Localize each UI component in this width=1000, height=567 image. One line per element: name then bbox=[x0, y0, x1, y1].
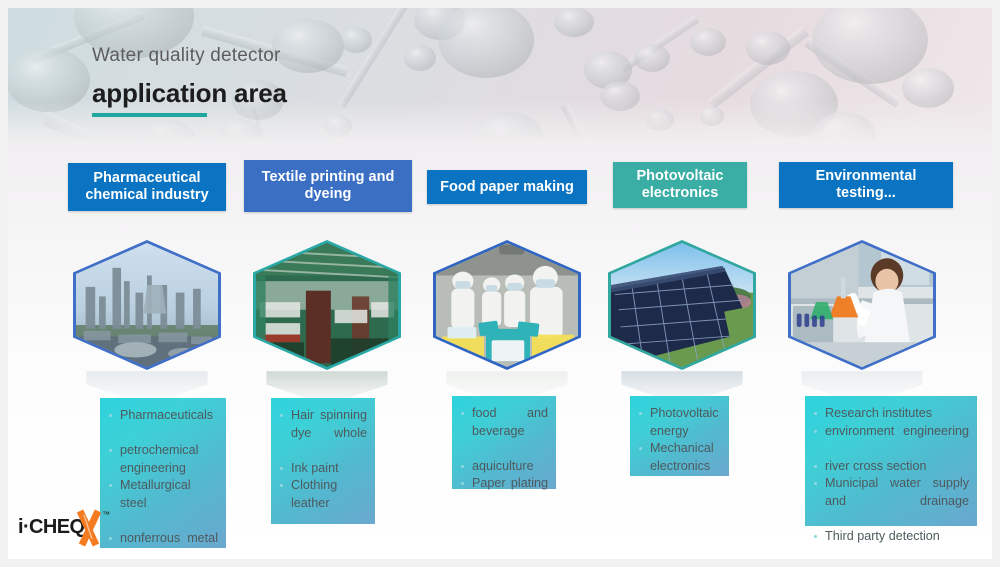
subtitle: Water quality detector bbox=[92, 44, 287, 68]
chip-label: Textile printing and dyeing bbox=[250, 169, 406, 203]
title-underline-rule bbox=[92, 113, 207, 117]
bullets-textile-printing-and-dyeing: Hair spinning dye whole Ink paint Clothi… bbox=[271, 398, 375, 524]
list-item: Photovoltaic energy bbox=[636, 405, 721, 440]
slide-title-group: Water quality detector application area bbox=[92, 44, 287, 117]
list-item: Research institutes bbox=[811, 405, 969, 423]
list-item: river cross section bbox=[811, 458, 969, 476]
list-item: Hair spinning dye whole bbox=[277, 407, 367, 460]
list-item: Paper plating bbox=[458, 475, 548, 510]
hex-border bbox=[788, 240, 936, 370]
list-item: petrochemical engineering bbox=[106, 442, 218, 477]
list-item: environment engineering bbox=[811, 423, 969, 458]
list-item: aquiculture bbox=[458, 458, 548, 476]
list-item: Mechanical electronics bbox=[636, 440, 721, 475]
brand-logo: i·CHEQ ™ bbox=[18, 505, 130, 549]
bullet-list: Photovoltaic energy Mechanical electroni… bbox=[636, 405, 721, 475]
bullet-list: Hair spinning dye whole Ink paint Clothi… bbox=[277, 407, 367, 530]
bullet-list: food and beverage aquiculture Paper plat… bbox=[458, 405, 548, 510]
chip-photovoltaic-electronics[interactable]: Photovoltaic electronics bbox=[613, 162, 747, 208]
chip-environmental-testing[interactable]: Environmental testing... bbox=[779, 162, 953, 208]
logo-trademark-symbol: ™ bbox=[102, 510, 110, 519]
hex-image-environmental-testing bbox=[788, 240, 936, 370]
hex-image-pharmaceutical-chemical-industry bbox=[73, 240, 221, 370]
hex-border bbox=[73, 240, 221, 370]
petrochemical-plant-photo bbox=[76, 243, 218, 367]
list-item: Clothing leather bbox=[277, 477, 367, 530]
bullet-list: Research institutes environment engineer… bbox=[811, 405, 969, 545]
bullets-environmental-testing: Research institutes environment engineer… bbox=[805, 396, 977, 526]
chip-textile-printing-and-dyeing[interactable]: Textile printing and dyeing bbox=[244, 160, 412, 212]
list-item: Pharmaceuticals bbox=[106, 407, 218, 442]
laboratory-scientist-photo bbox=[791, 243, 933, 367]
chip-label: Food paper making bbox=[440, 179, 574, 196]
slide-root: Water quality detector application area … bbox=[0, 0, 1000, 567]
logo-wordmark: i·CHEQ bbox=[18, 516, 84, 538]
bullets-photovoltaic-electronics: Photovoltaic energy Mechanical electroni… bbox=[630, 396, 729, 476]
solar-panel-array-photo bbox=[611, 243, 753, 367]
hex-border bbox=[253, 240, 401, 370]
food-packaging-workers-photo bbox=[436, 243, 578, 367]
textile-mill-machinery-photo bbox=[256, 243, 398, 367]
chip-food-paper-making[interactable]: Food paper making bbox=[427, 170, 587, 204]
list-item: food and beverage bbox=[458, 405, 548, 458]
chip-label: Environmental testing... bbox=[785, 168, 947, 202]
hex-border bbox=[608, 240, 756, 370]
hex-image-food-paper-making bbox=[433, 240, 581, 370]
category-chip-row: Pharmaceutical chemical industry Textile… bbox=[0, 160, 1000, 212]
list-item: Municipal water supply and drainage bbox=[811, 475, 969, 528]
hex-image-photovoltaic-electronics bbox=[608, 240, 756, 370]
list-item: Ink paint bbox=[277, 460, 367, 478]
page-title: application area bbox=[92, 76, 287, 110]
hex-image-textile-printing-and-dyeing bbox=[253, 240, 401, 370]
hex-border bbox=[433, 240, 581, 370]
chip-label: Pharmaceutical chemical industry bbox=[74, 170, 220, 204]
chip-pharmaceutical-chemical-industry[interactable]: Pharmaceutical chemical industry bbox=[68, 163, 226, 211]
list-item: Third party detection bbox=[811, 528, 969, 546]
bullets-food-paper-making: food and beverage aquiculture Paper plat… bbox=[452, 396, 556, 489]
chip-label: Photovoltaic electronics bbox=[619, 168, 741, 202]
